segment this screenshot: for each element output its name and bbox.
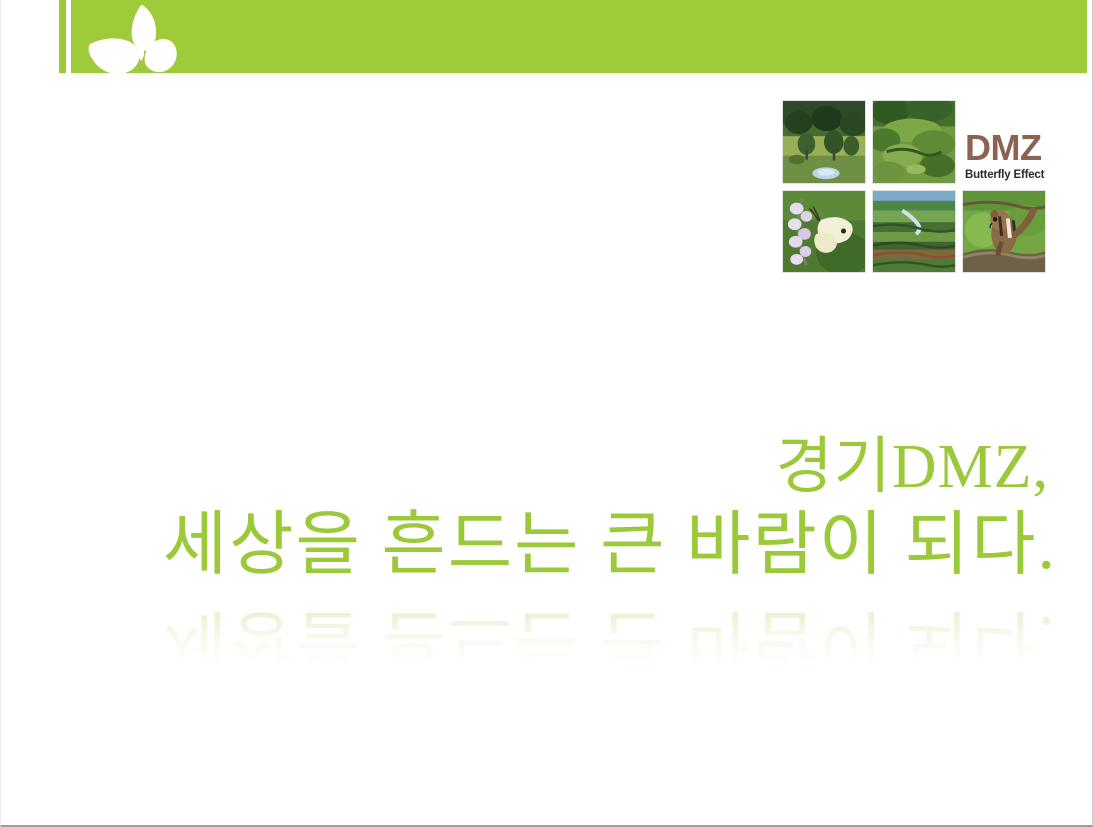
chipmunk-on-log-photo [962, 190, 1046, 273]
presentation-slide: DMZ Butterfly Effect 경기DMZ, 세상을 흔드는 큰 바람… [0, 0, 1093, 827]
dmz-wordmark: DMZ Butterfly Effect [965, 130, 1051, 182]
wordmark-tagline: Butterfly Effect [965, 168, 1051, 182]
header-green-bar-shadow [71, 71, 1087, 75]
headline-reflection: 세상을 흔드는 큰 바람이 되다. [1, 598, 1069, 682]
header-green-bar [71, 0, 1087, 73]
slide-header-band [1, 0, 1093, 80]
forest-meadow-pond-photo [782, 100, 866, 184]
river-valley-field-photo [872, 190, 956, 273]
green-hillside-photo [872, 100, 956, 184]
slide-headline: 경기DMZ, 세상을 흔드는 큰 바람이 되다. [1, 430, 1069, 588]
wordmark-title: DMZ [965, 130, 1051, 166]
header-accent-stripe-shadow [59, 71, 66, 75]
dmz-logo-block: DMZ Butterfly Effect [782, 100, 1047, 273]
butterfly-icon [79, 2, 191, 80]
headline-line-2: 세상을 흔드는 큰 바람이 되다. [1, 504, 1069, 588]
headline-line-1: 경기DMZ, [1, 430, 1069, 504]
butterfly-on-flower-photo [782, 190, 866, 273]
header-accent-stripe [59, 0, 66, 73]
